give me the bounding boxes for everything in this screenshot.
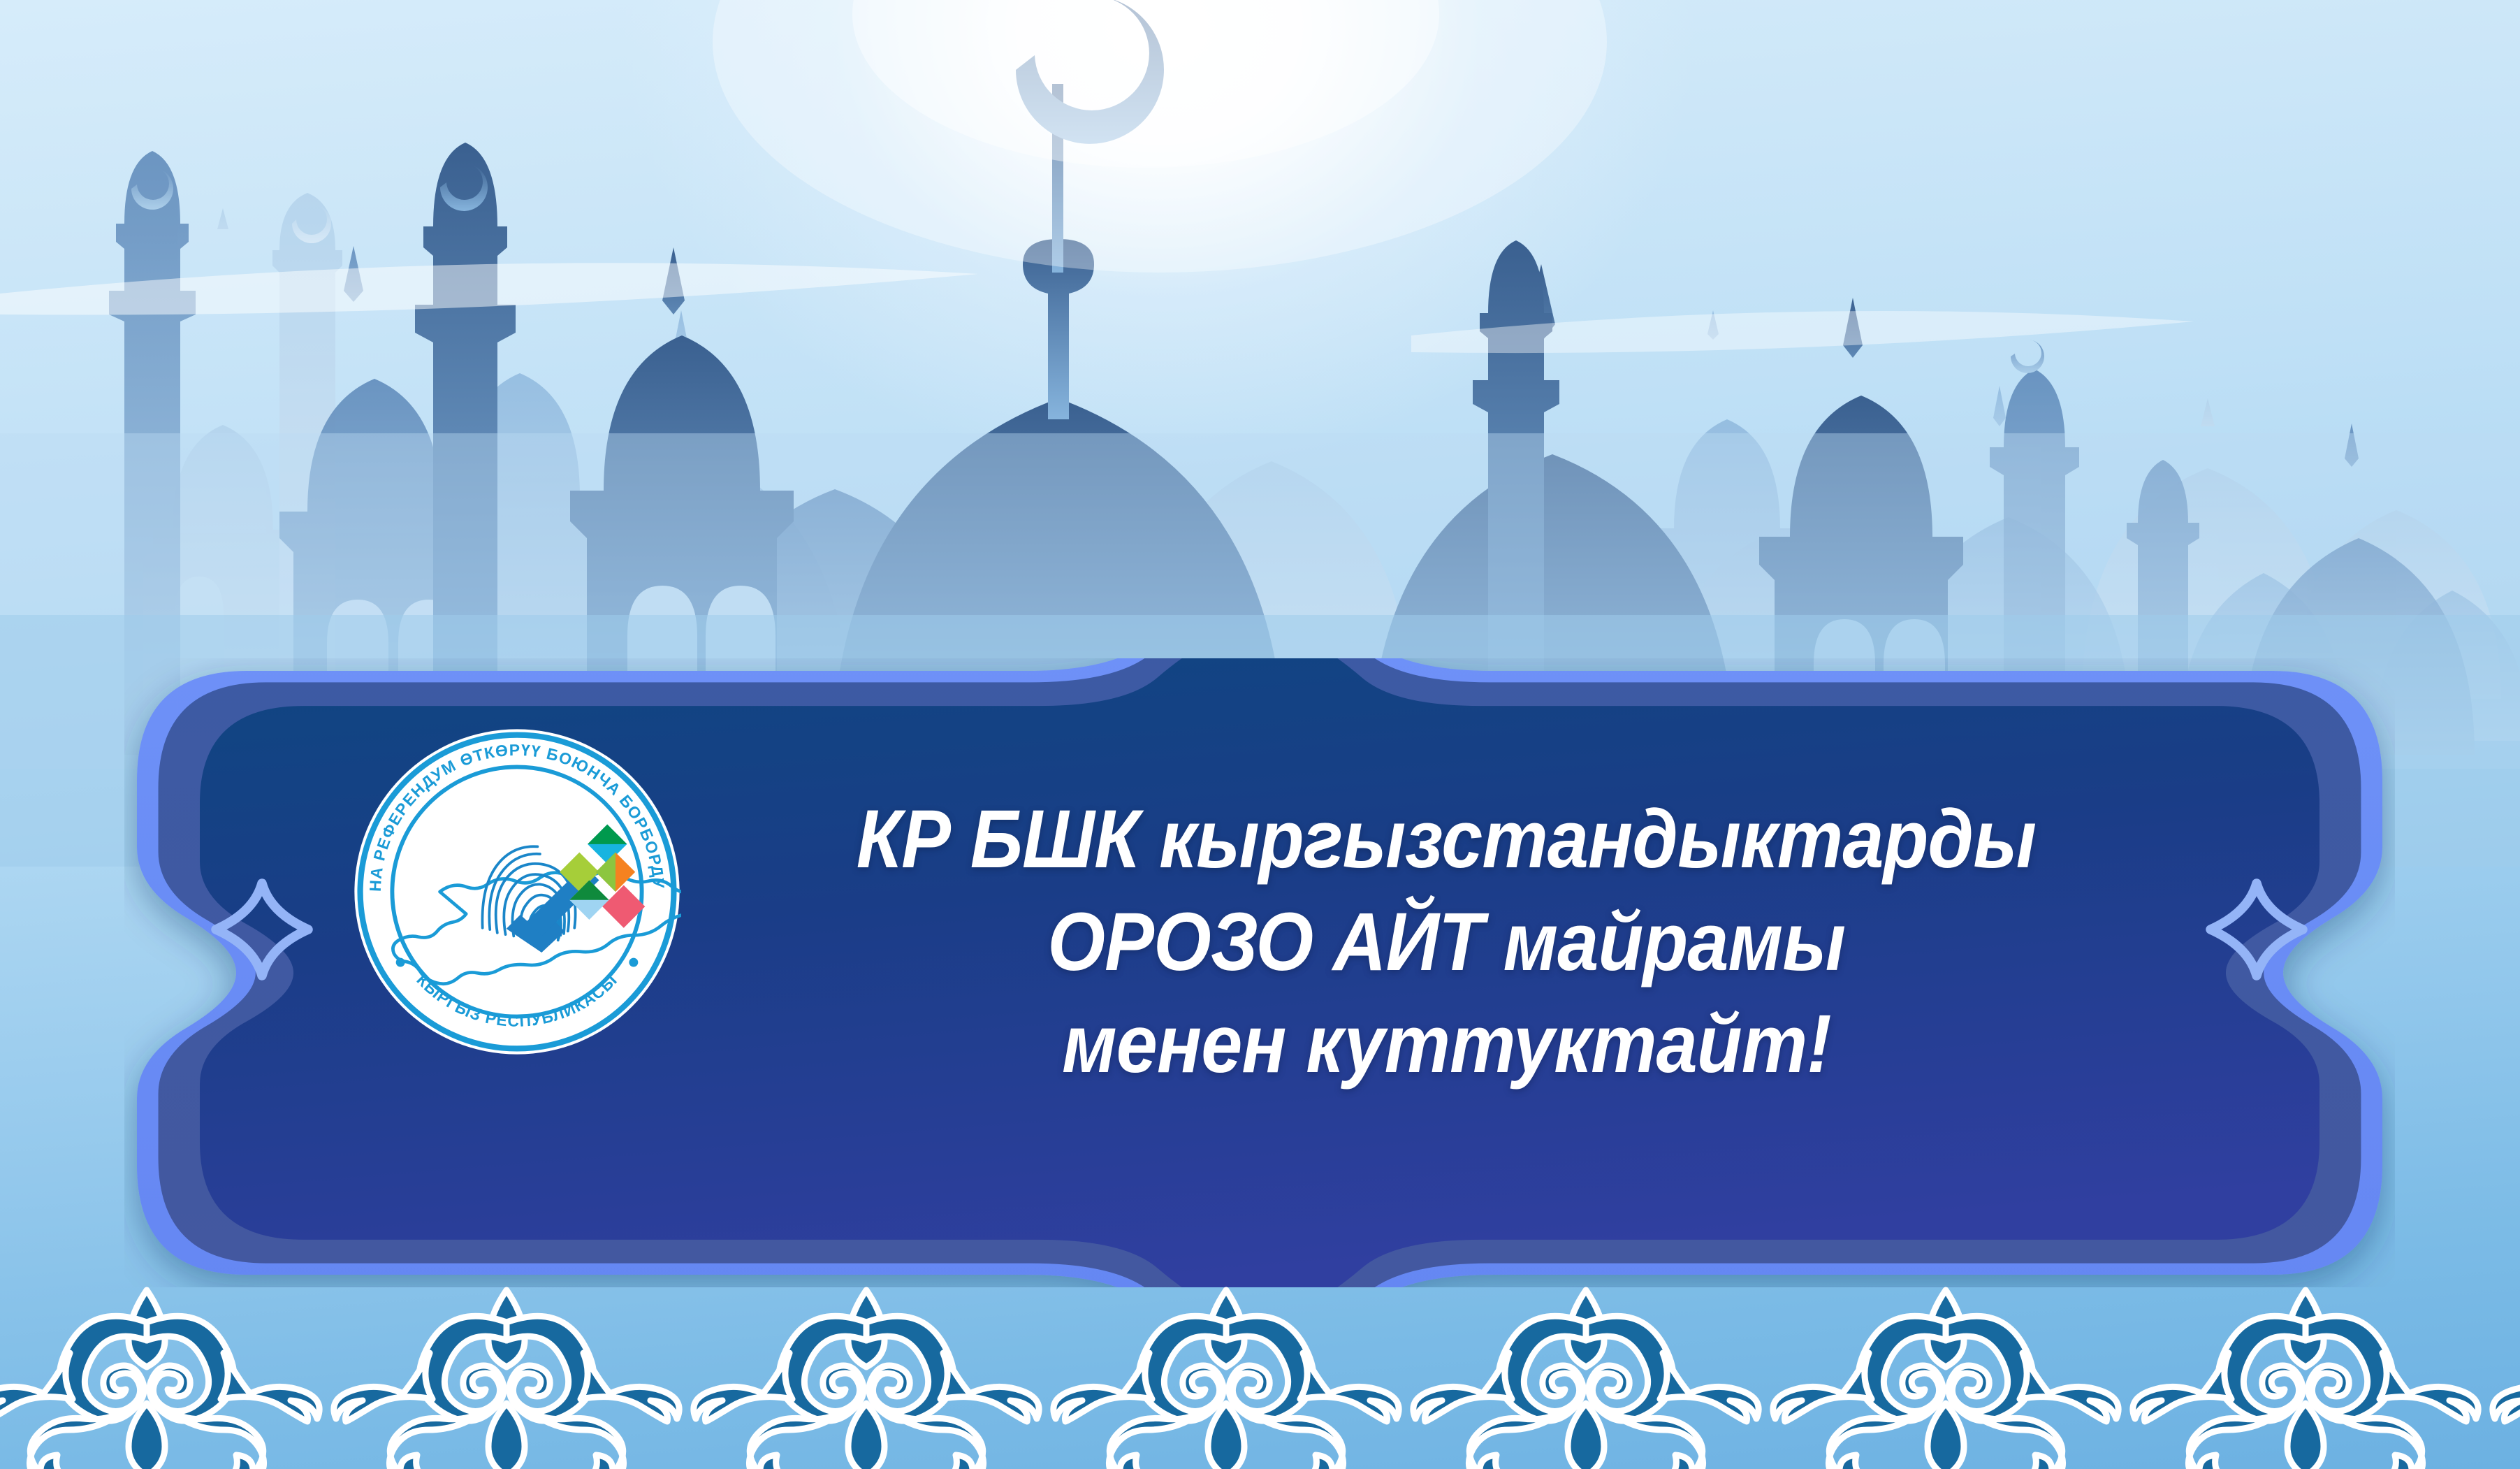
- four-point-diamond-icon: [210, 877, 314, 982]
- kyrgyz-scroll-ornament: [0, 1259, 2520, 1469]
- cec-kyrgyzstan-emblem: ШАЙЛОО ЖАНА РЕФЕРЕНДУМ ӨТКӨРҮҮ БОЮНЧА БО…: [353, 728, 681, 1056]
- four-point-diamond-icon: [2204, 877, 2309, 982]
- greeting-poster: ШАЙЛОО ЖАНА РЕФЕРЕНДУМ ӨТКӨРҮҮ БОЮНЧА БО…: [0, 0, 2520, 1469]
